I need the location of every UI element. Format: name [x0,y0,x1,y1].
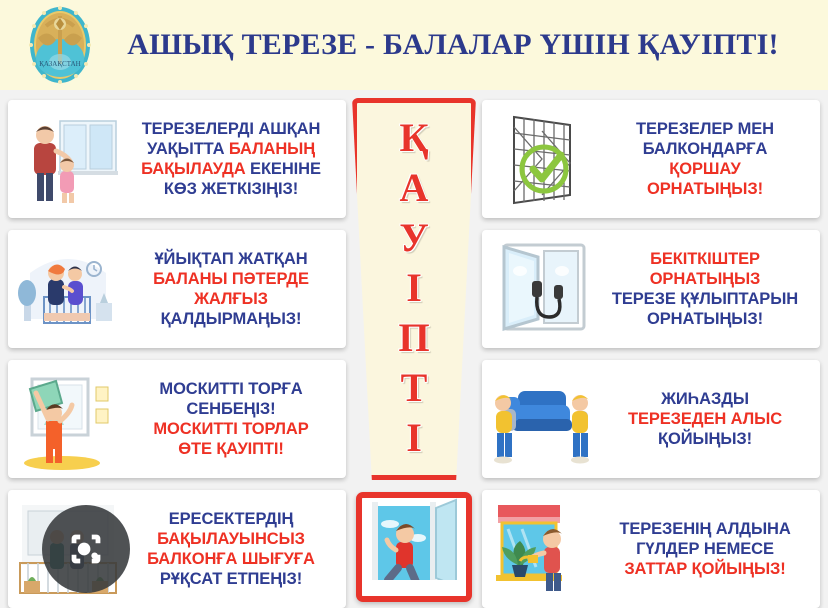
banner-letter: І [406,419,422,457]
card-no-unsupervised-balcony-access[interactable]: ЕРЕСЕКТЕРДІҢБАҚЫЛАУЫНСЫЗБАЛКОНҒА ШЫҒУҒАР… [8,490,346,608]
card-message-segment: ЕКЕНІНЕ [250,160,321,178]
card-message-segment: СЕНБЕҢІЗ! [186,400,275,418]
card-message-line: ТЕРЕЗЕЛЕРДІ АШҚАН [124,119,338,139]
children-on-balcony-illustration [14,497,122,601]
card-keep-furniture-away-from-windows[interactable]: ЖИҺАЗДЫТЕРЕЗЕДЕН АЛЫСҚОЙЫҢЫЗ! [482,360,820,478]
card-message-segment: ГҮЛДЕР НЕМЕСЕ [636,540,774,558]
card-message-segment: ТЕРЕЗЕЛЕРДІ АШҚАН [142,120,321,138]
two-movers-carrying-blue-armchair-illustration [488,367,596,471]
card-message-line: ЖАЛҒЫЗ [124,289,338,309]
banner-letter: У [399,219,428,257]
card-message-segment: УАҚЫТТА [147,140,229,158]
card-message-segment: ЕРЕСЕКТЕРДІҢ [169,510,294,528]
card-message-segment: БАҚЫЛАУЫНСЫЗ [157,530,305,548]
card-message-line: ТЕРЕЗЕНІҢ АЛДЫНА [598,519,812,539]
card-message-line: ҰЙЫҚТАП ЖАТҚАН [124,249,338,269]
card-message: ТЕРЕЗЕЛЕРДІ АШҚАНУАҚЫТТА БАЛАНЫҢБАҚЫЛАУД… [122,119,346,200]
card-message-line: ҚОЙЫҢЫЗ! [598,429,812,449]
card-message-line: ОРНАТЫҢЫЗ [598,269,812,289]
google-lens-camera-icon[interactable] [42,505,130,593]
open-window-with-cable-lock-illustration [488,237,596,341]
card-message-segment: ТЕРЕЗЕ ҚҰЛЫПТАРЫН [612,290,798,308]
card-message-segment: ҰЙЫҚТАП ЖАТҚАН [154,250,307,268]
card-supervise-child-at-open-window[interactable]: ТЕРЕЗЕЛЕРДІ АШҚАНУАҚЫТТА БАЛАНЫҢБАҚЫЛАУД… [8,100,346,218]
card-message-segment: ТЕРЕЗЕДЕН АЛЫС [628,410,782,428]
card-message: ТЕРЕЗЕЛЕР МЕНБАЛКОНДАРҒАҚОРШАУОРНАТЫҢЫЗ! [596,119,820,200]
svg-text:ҚАЗАҚСТАН: ҚАЗАҚСТАН [39,60,81,68]
card-message-line: ОРНАТЫҢЫЗ! [598,309,812,329]
card-message-segment: БАЛАНЫҢ [229,140,315,158]
card-message-segment: БАЛАНЫ ПӘТЕРДЕ [153,270,309,288]
card-message-segment: РҰҚСАТ ЕТПЕҢІЗ! [160,570,302,588]
card-message-line: ҚОРШАУ [598,159,812,179]
card-message-line: ӨТЕ ҚАУІПТІ! [124,439,338,459]
card-message-line: ЗАТТАР ҚОЙЫҢЫЗ! [598,559,812,579]
kazakhstan-coat-of-arms-emblem: ҚАЗАҚСТАН [24,4,96,86]
card-message-line: ТЕРЕЗЕ ҚҰЛЫПТАРЫН [598,289,812,309]
card-message: ҰЙЫҚТАП ЖАТҚАНБАЛАНЫ ПӘТЕРДЕЖАЛҒЫЗҚАЛДЫР… [122,249,346,330]
poster-header: ҚАЗАҚСТАН АШЫҚ ТЕРЕЗЕ - БАЛАЛАР ҮШІН ҚАУ… [0,0,828,90]
card-message-line: ЖИҺАЗДЫ [598,389,812,409]
card-message-segment: ЖИҺАЗДЫ [661,390,749,408]
card-message-line: БЕКІТКІШТЕР [598,249,812,269]
father-and-daughter-by-window-illustration [14,107,122,211]
card-message-line: БАЛАНЫ ПӘТЕРДЕ [124,269,338,289]
card-message-line: ҚАЛДЫРМАҢЫЗ! [124,309,338,329]
card-message-line: БАҚЫЛАУДА ЕКЕНІНЕ [124,159,338,179]
card-message-line: БАЛКОНҒА ШЫҒУҒА [124,549,338,569]
card-message-segment: ЖАЛҒЫЗ [194,290,268,308]
card-message-segment: БАЛКОНДАРҒА [643,140,768,158]
card-place-flowers-or-objects-at-window[interactable]: ТЕРЕЗЕНІҢ АЛДЫНАГҮЛДЕР НЕМЕСЕЗАТТАР ҚОЙЫ… [482,490,820,608]
card-message: МОСКИТТІ ТОРҒАСЕНБЕҢІЗ!МОСКИТТІ ТОРЛАРӨТ… [122,379,346,460]
card-message-line: СЕНБЕҢІЗ! [124,399,338,419]
card-message-line: УАҚЫТТА БАЛАНЫҢ [124,139,338,159]
card-install-window-locks-and-restrictors[interactable]: БЕКІТКІШТЕРОРНАТЫҢЫЗТЕРЕЗЕ ҚҰЛЫПТАРЫНОРН… [482,230,820,348]
card-message: ТЕРЕЗЕНІҢ АЛДЫНАГҮЛДЕР НЕМЕСЕЗАТТАР ҚОЙЫ… [596,519,820,579]
card-message-line: ЕРЕСЕКТЕРДІҢ [124,509,338,529]
card-message: БЕКІТКІШТЕРОРНАТЫҢЫЗТЕРЕЗЕ ҚҰЛЫПТАРЫНОРН… [596,249,820,330]
card-message-segment: КӨЗ ЖЕТКІЗІҢІЗ! [164,180,298,198]
card-never-leave-sleeping-child-alone[interactable]: ҰЙЫҚТАП ЖАТҚАНБАЛАНЫ ПӘТЕРДЕЖАЛҒЫЗҚАЛДЫР… [8,230,346,348]
center-danger-banner: Қ А У І П Т І [352,98,476,480]
boy-at-open-window-illustration [362,498,466,596]
window-grille-with-green-checkmark-illustration [488,107,596,211]
card-message-line: КӨЗ ЖЕТКІЗІҢІЗ! [124,179,338,199]
card-do-not-trust-mosquito-nets[interactable]: МОСКИТТІ ТОРҒАСЕНБЕҢІЗ!МОСКИТТІ ТОРЛАРӨТ… [8,360,346,478]
banner-letter: П [398,319,429,357]
worker-removing-mosquito-net-illustration [14,367,122,471]
card-message-segment: ОРНАТЫҢЫЗ! [647,310,763,328]
card-message-segment: ҚОЙЫҢЫЗ! [658,430,752,448]
boy-watering-plant-on-windowsill-illustration [488,497,596,601]
card-message-segment: МОСКИТТІ ТОРҒА [159,380,302,398]
left-card-column: ТЕРЕЗЕЛЕРДІ АШҚАНУАҚЫТТА БАЛАНЫҢБАҚЫЛАУД… [8,100,346,608]
banner-letter: А [400,169,429,207]
card-message-segment: БЕКІТКІШТЕР [650,250,760,268]
banner-letter: І [406,269,422,307]
card-message-segment: ӨТЕ ҚАУІПТІ! [178,440,284,458]
card-message-segment: БАҚЫЛАУДА [141,160,250,178]
card-message-segment: ОРНАТЫҢЫЗ [650,270,761,288]
page-title: АШЫҚ ТЕРЕЗЕ - БАЛАЛАР ҮШІН ҚАУІПТІ! [96,28,828,62]
card-message-line: ТЕРЕЗЕЛЕР МЕН [598,119,812,139]
parents-at-baby-crib-illustration [14,237,122,341]
boy-at-open-window-tile[interactable] [356,492,472,602]
card-message-line: МОСКИТТІ ТОРЛАР [124,419,338,439]
card-message-segment: МОСКИТТІ ТОРЛАР [153,420,308,438]
banner-letter: Т [401,369,428,407]
card-message-segment: ТЕРЕЗЕЛЕР МЕН [636,120,774,138]
card-install-grilles-on-windows-and-balconies[interactable]: ТЕРЕЗЕЛЕР МЕНБАЛКОНДАРҒАҚОРШАУОРНАТЫҢЫЗ! [482,100,820,218]
card-message-line: МОСКИТТІ ТОРҒА [124,379,338,399]
card-message-segment: БАЛКОНҒА ШЫҒУҒА [147,550,315,568]
card-message-segment: ЗАТТАР ҚОЙЫҢЫЗ! [624,560,785,578]
poster-root: ҚАЗАҚСТАН АШЫҚ ТЕРЕЗЕ - БАЛАЛАР ҮШІН ҚАУ… [0,0,828,608]
card-message-line: ТЕРЕЗЕДЕН АЛЫС [598,409,812,429]
card-message-line: БАҚЫЛАУЫНСЫЗ [124,529,338,549]
card-message-segment: ТЕРЕЗЕНІҢ АЛДЫНА [619,520,790,538]
card-message-segment: ҚОРШАУ [669,160,740,178]
card-message-segment: ҚАЛДЫРМАҢЫЗ! [161,310,302,328]
card-message-line: ГҮЛДЕР НЕМЕСЕ [598,539,812,559]
right-card-column: ТЕРЕЗЕЛЕР МЕНБАЛКОНДАРҒАҚОРШАУОРНАТЫҢЫЗ!… [482,100,820,608]
card-message: ЖИҺАЗДЫТЕРЕЗЕДЕН АЛЫСҚОЙЫҢЫЗ! [596,389,820,449]
card-message-segment: ОРНАТЫҢЫЗ! [647,180,763,198]
card-message-line: ОРНАТЫҢЫЗ! [598,179,812,199]
card-message: ЕРЕСЕКТЕРДІҢБАҚЫЛАУЫНСЫЗБАЛКОНҒА ШЫҒУҒАР… [122,509,346,590]
card-message-line: РҰҚСАТ ЕТПЕҢІЗ! [124,569,338,589]
card-message-line: БАЛКОНДАРҒА [598,139,812,159]
banner-letter: Қ [399,119,428,157]
